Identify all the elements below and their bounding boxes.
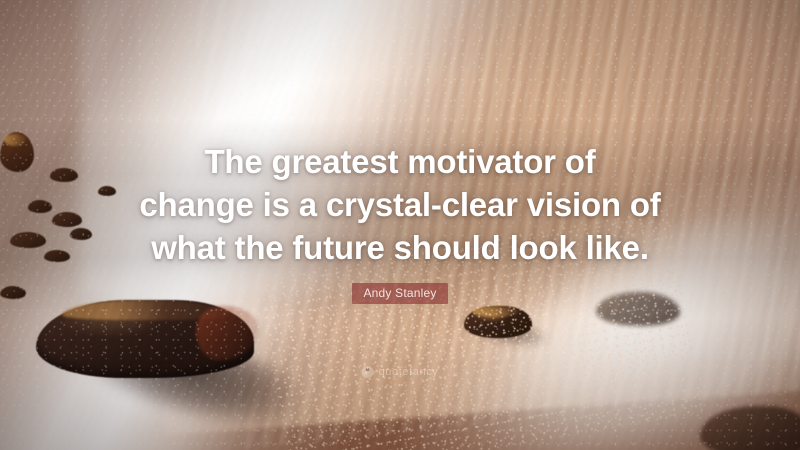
quote-poster: The greatest motivator of change is a cr… (0, 0, 800, 450)
watermark-brand-label: quotefancy (379, 366, 439, 378)
quote-mark-icon: ❝ (362, 366, 374, 378)
poster-content: The greatest motivator of change is a cr… (0, 0, 800, 450)
quote-line-1: The greatest motivator of (100, 140, 700, 183)
quote-text: The greatest motivator of change is a cr… (100, 140, 700, 269)
quotefancy-watermark[interactable]: ❝ quotefancy (362, 366, 439, 378)
author-badge[interactable]: Andy Stanley (352, 283, 447, 304)
quote-line-2: change is a crystal-clear vision of (100, 183, 700, 226)
quote-line-3: what the future should look like. (100, 226, 700, 269)
